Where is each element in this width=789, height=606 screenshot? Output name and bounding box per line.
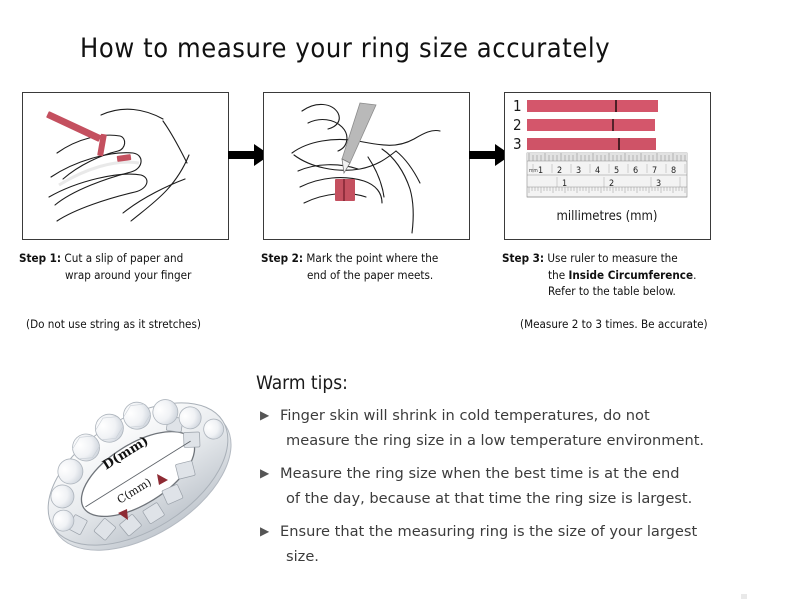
warm-tips-list: ▶ Finger skin will shrink in cold temper… [256,403,761,577]
tip-item-2: ▶ Measure the ring size when the best ti… [256,461,761,511]
measured-strip-3 [527,138,656,150]
ruler-mm-tick-4: 4 [595,166,600,176]
ruler-mm-tick-2: 2 [557,166,562,176]
step-3-line2-post: . [693,268,696,282]
tip-item-1: ▶ Finger skin will shrink in cold temper… [256,403,761,453]
tip-2-line1: Measure the ring size when the best time… [280,465,680,482]
measured-strip-1 [527,100,658,112]
step-3-note: (Measure 2 to 3 times. Be accurate) [520,317,708,331]
tip-3-line1: Ensure that the measuring ring is the si… [280,523,697,540]
ruler-inch-tick-2: 2 [609,179,614,189]
ruler-mm-tick-6: 6 [633,166,638,176]
hand-with-paper-strip-drawing [23,93,228,239]
step-2-line2: end of the paper meets. [261,267,496,284]
step-1-illustration [22,92,229,240]
page-title: How to measure your ring size accurately [80,33,720,64]
eternity-ring-diagram: D(mm) C(mm) [22,358,254,590]
step-3-line2: the Inside Circumference. [502,267,752,284]
bullet-triangle-icon: ▶ [260,461,269,486]
ruler-mm-tick-3: 3 [576,166,581,176]
strip-number-2: 2 [513,116,522,134]
strips-and-ruler-diagram: 1 2 3 mm 1 2 3 4 5 6 7 [505,93,710,239]
step-3-line1: Use ruler to measure the [547,251,677,265]
ruler-mm-tick-5: 5 [614,166,619,176]
strip-number-1: 1 [513,97,522,115]
step-1-caption: Step 1: Cut a slip of paper and wrap aro… [19,250,254,283]
ring-photo-with-measurements: D(mm) C(mm) [22,358,254,590]
step-2-line1: Mark the point where the [306,251,438,265]
step-3-caption: Step 3: Use ruler to measure the the Ins… [502,250,752,300]
paper-strip-on-finger [335,179,355,201]
paper-strip [46,111,102,142]
step-3-illustration: 1 2 3 mm 1 2 3 4 5 6 7 [504,92,711,240]
ruler-inch-tick-3: 3 [656,179,661,189]
step-2-illustration [263,92,470,240]
tip-2-line2: of the day, because at that time the rin… [280,486,761,511]
pencil [342,103,376,163]
ruler-mm-unit: mm [529,168,538,174]
step-1-line2: wrap around your finger [19,267,254,284]
measured-strip-2 [527,119,655,131]
ruler-caption: millimetres (mm) [556,209,657,224]
step-3-line2-pre: the [548,268,568,282]
tip-item-3: ▶ Ensure that the measuring ring is the … [256,519,761,569]
ruler: mm 1 2 3 4 5 6 7 8 1 2 3 [527,153,687,197]
inside-circumference-emphasis: Inside Circumference [568,268,693,282]
image-artifact [741,594,747,599]
bullet-triangle-icon: ▶ [260,519,269,544]
step-1-label: Step 1: [19,251,61,265]
step-3-label: Step 3: [502,251,544,265]
step-1-line1: Cut a slip of paper and [64,251,183,265]
strip-number-3: 3 [513,135,522,153]
ruler-mm-tick-8: 8 [671,166,676,176]
tip-3-line2: size. [280,544,761,569]
step-1-note: (Do not use string as it stretches) [26,317,201,331]
ruler-mm-tick-7: 7 [652,166,657,176]
step-2-label: Step 2: [261,251,303,265]
hands-marking-strip-drawing [264,93,469,239]
step-3-line3: Refer to the table below. [502,283,752,300]
tip-1-line1: Finger skin will shrink in cold temperat… [280,407,650,424]
ruler-inch-tick-1: 1 [562,179,567,189]
warm-tips-heading: Warm tips: [256,372,348,394]
tip-1-line2: measure the ring size in a low temperatu… [280,428,761,453]
ruler-mm-tick-1: 1 [538,166,543,176]
step-2-caption: Step 2: Mark the point where the end of … [261,250,496,283]
bullet-triangle-icon: ▶ [260,403,269,428]
